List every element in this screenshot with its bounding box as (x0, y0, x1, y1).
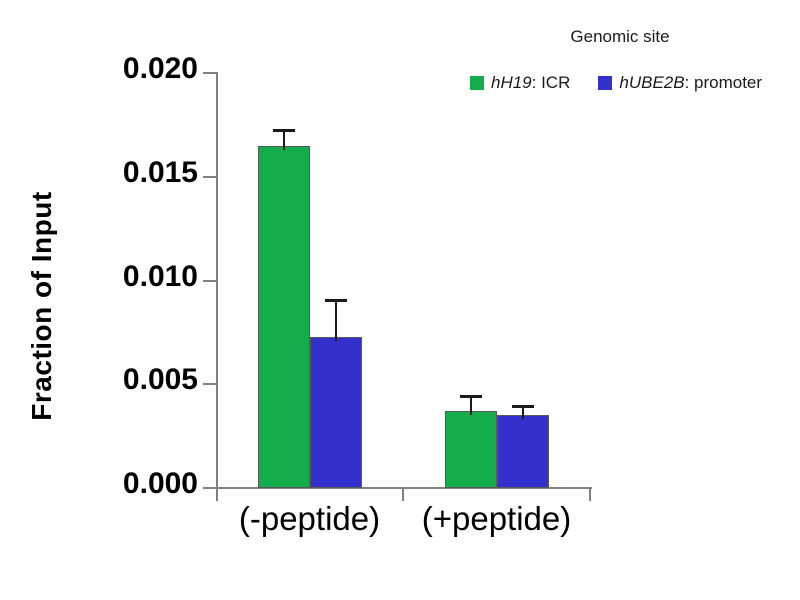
y-tick-mark (203, 280, 217, 282)
error-bar-cap (460, 395, 482, 398)
legend-title: Genomic site (440, 27, 800, 47)
legend-swatch-blue (598, 76, 612, 90)
y-tick-mark (203, 487, 217, 489)
y-tick-label-text: 0.015 (68, 156, 198, 190)
y-tick-mark (203, 176, 217, 178)
legend-label-hube2b: hUBE2B: promoter (619, 73, 762, 93)
x-category-label: (+peptide) (403, 500, 590, 538)
error-bar-cap (325, 299, 347, 302)
bar-hube2b-minus-peptide (310, 337, 362, 488)
y-tick-mark (203, 383, 217, 385)
bar-hh19-plus-peptide (445, 411, 497, 488)
legend-entry-hh19: hH19: ICR (470, 73, 570, 93)
legend-entry-hube2b: hUBE2B: promoter (598, 73, 762, 93)
legend: hH19: ICR hUBE2B: promoter (470, 73, 762, 93)
bar-hube2b-plus-peptide (497, 415, 549, 488)
y-tick-mark (203, 72, 217, 74)
error-bar-cap (273, 129, 295, 132)
y-tick-label-text: 0.000 (68, 467, 198, 501)
error-bar-stem (335, 299, 337, 340)
y-tick-label-text: 0.005 (68, 363, 198, 397)
bar-hh19-minus-peptide (258, 146, 310, 488)
error-bar-stem (470, 395, 472, 416)
y-tick-label-text: 0.010 (68, 260, 198, 294)
legend-gene-hube2b: hUBE2B (619, 73, 684, 92)
legend-swatch-green (470, 76, 484, 90)
y-tick-label-text: 0.020 (68, 52, 198, 86)
x-category-label: (-peptide) (216, 500, 403, 538)
y-axis-title: Fraction of Input (26, 116, 58, 496)
legend-gene-hh19: hH19 (491, 73, 532, 92)
error-bar-cap (512, 405, 534, 408)
error-bar-stem (283, 129, 285, 150)
legend-rest-hh19: : ICR (532, 73, 571, 92)
bar-chart-figure: Genomic site hH19: ICR hUBE2B: promoter … (0, 0, 800, 600)
legend-rest-hube2b: : promoter (685, 73, 762, 92)
legend-label-hh19: hH19: ICR (491, 73, 570, 93)
